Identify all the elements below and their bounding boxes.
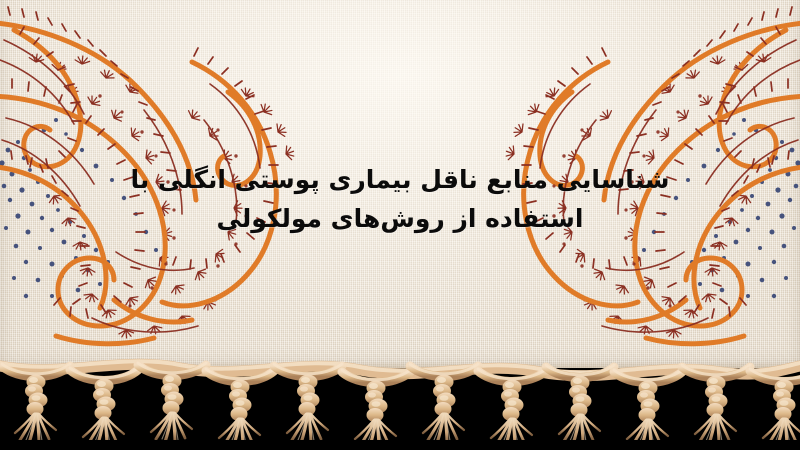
slide-canvas: شناسایی منابع ناقل بیماری پوستی انگلی با… [0, 0, 800, 450]
knotted-tassel-fringe [0, 352, 800, 450]
bottom-backdrop [0, 440, 800, 450]
embroidered-corner-motif-right [459, 0, 800, 360]
embroidered-corner-motif-left [0, 0, 341, 360]
